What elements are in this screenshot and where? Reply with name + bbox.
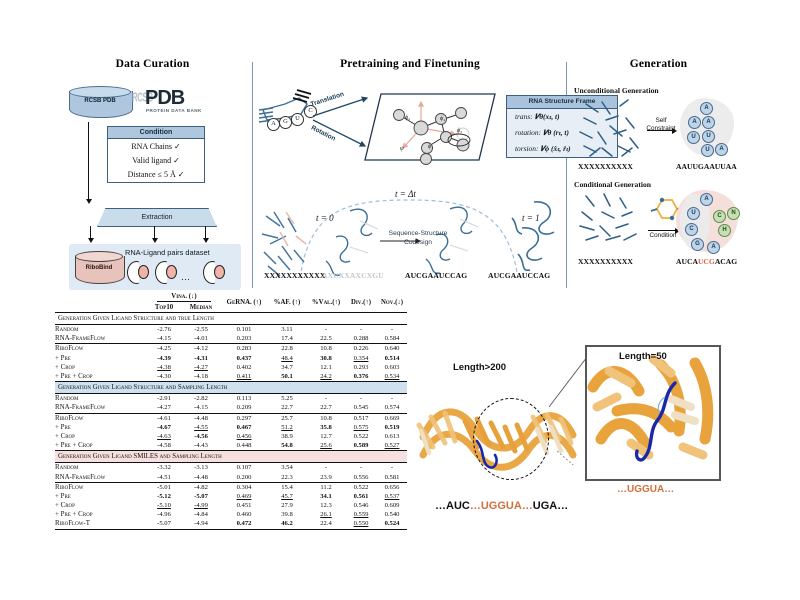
sequence-label-3: AUCGAAUCCAG — [488, 271, 550, 280]
table-bottom-rule — [55, 529, 407, 530]
table-cell: 0.540 — [377, 510, 407, 519]
cond-nuc-C: C — [685, 223, 698, 236]
table-cell: 24.2 — [307, 372, 345, 382]
table-cell: -4.27 — [147, 403, 181, 413]
torsion-frame-diagram — [363, 90, 503, 165]
table-cell: -4.15 — [147, 334, 181, 344]
table-row: + Pre + Crop-4.96-4.840.46039.826.10.559… — [55, 510, 407, 519]
extraction-block: Extraction — [97, 208, 217, 227]
table-row: RiboFlow-T-5.07-4.940.47246.222.40.5500.… — [55, 519, 407, 528]
table-cell: 0.527 — [377, 441, 407, 451]
table-cell: 0.669 — [377, 413, 407, 423]
ligand-pocket-icon-1 — [127, 261, 149, 283]
table-cell: - — [377, 325, 407, 335]
ribobind-dataset-box: RiboBind RNA-Ligand pairs dataset … — [69, 244, 241, 290]
panel-title-generation: Generation — [572, 58, 745, 70]
uncond-nuc-6: A — [715, 143, 728, 156]
table-cell: 0.467 — [221, 423, 267, 432]
ligand-pocket-icon-3 — [203, 261, 225, 283]
table-cell: - — [307, 463, 345, 473]
table-row-method: RNA-FrameFlow — [55, 334, 147, 344]
table-cell: -4.43 — [181, 441, 221, 451]
table-row-method: + Crop — [55, 363, 147, 372]
table-cell: 5.25 — [267, 394, 307, 404]
uncond-input-sequence: XXXXXXXXXX — [578, 162, 633, 171]
panel-divider-1 — [252, 62, 253, 288]
table-cell: 23.9 — [307, 472, 345, 482]
table-cell: 0.524 — [377, 519, 407, 528]
table-cell: -4.27 — [181, 363, 221, 372]
arrow-extract-1 — [90, 226, 91, 239]
table-cell: 0.107 — [221, 463, 267, 473]
table-cell: 0.451 — [221, 501, 267, 510]
codesign-label: Sequence-Structure Codesign — [378, 230, 458, 247]
table-row-method: + Pre + Crop — [55, 510, 147, 519]
sequence-label-2: AUCGAAUCCAG — [405, 271, 467, 280]
extraction-label: Extraction — [98, 209, 216, 226]
table-cell: 0.101 — [221, 325, 267, 335]
table-cell: -4.38 — [147, 363, 181, 372]
zoom-region-circle — [473, 398, 549, 480]
table-cell: 0.640 — [377, 344, 407, 354]
table-row: RNA-FrameFlow-4.51-4.480.20022.323.90.55… — [55, 472, 407, 482]
uncond-nuc-4: U — [702, 130, 715, 143]
table-cell: 0.226 — [345, 344, 377, 354]
table-row-method: + Crop — [55, 432, 147, 441]
table-row: RiboFlow-5.01-4.820.30415.411.20.5220.65… — [55, 482, 407, 492]
col-vina-median: Median — [181, 303, 221, 313]
table-cell: 27.9 — [267, 501, 307, 510]
table-cell: 22.7 — [307, 403, 345, 413]
zoomed-rna-helix — [587, 347, 719, 479]
table-row-method: + Pre — [55, 354, 147, 363]
uncond-nuc-0: A — [700, 102, 713, 115]
table-row: + Pre-5.12-5.070.46945.734.10.5610.537 — [55, 492, 407, 501]
ligand-pocket-icon-2 — [155, 261, 177, 283]
pdb-source-row: RCSB PDB RCSB PDB PROTEIN DATA BANK — [69, 82, 239, 122]
table-cell: -4.55 — [181, 423, 221, 432]
table-cell: 10.8 — [307, 413, 345, 423]
table-cell: -4.58 — [147, 441, 181, 451]
table-cell: 22.3 — [267, 472, 307, 482]
table-cell: 0.304 — [221, 482, 267, 492]
cond-nuc-U: U — [687, 207, 700, 220]
table-cell: 0.517 — [345, 413, 377, 423]
cond-output-prefix: AUCA — [676, 257, 698, 266]
table-cell: 0.561 — [345, 492, 377, 501]
cond-output-highlight: UCG — [698, 257, 715, 266]
table-row: + Pre-4.67-4.550.46751.235.80.5750.519 — [55, 423, 407, 432]
self-constraint-line-2: Constraint — [646, 125, 675, 132]
table-section-header-row: Generation Given Ligand Structure and tr… — [55, 313, 407, 325]
dataset-ellipsis: … — [181, 272, 191, 282]
table-cell: 0.545 — [345, 403, 377, 413]
table-row-method: + Pre + Crop — [55, 441, 147, 451]
table-cell: 25.6 — [307, 441, 345, 451]
cond-nuc-G: G — [691, 238, 704, 251]
col-val: %Val.(↑) — [307, 292, 345, 313]
table-cell: -4.56 — [181, 432, 221, 441]
page-root: Data Curation RCSB PDB RCSB PDB PROTEIN … — [0, 0, 800, 600]
table-cell: 0.613 — [377, 432, 407, 441]
table-cell: 54.8 — [267, 441, 307, 451]
ribobind-label: RiboBind — [75, 265, 123, 271]
table-cell: 0.209 — [221, 403, 267, 413]
col-group-vina: Vina. (↓) — [147, 292, 221, 303]
condition-label: Condition — [644, 232, 682, 239]
table-cell: - — [377, 394, 407, 404]
bottom-seq-highlight: …UGGUA… — [470, 500, 533, 512]
panel-title-pretraining: Pretraining and Finetuning — [260, 58, 560, 70]
table-cell: 0.519 — [377, 423, 407, 432]
table-cell: -4.61 — [147, 413, 181, 423]
panel-pretraining: Pretraining and Finetuning A G U C Trans… — [260, 58, 560, 290]
t-label-dt: t = Δt — [395, 189, 416, 199]
table-cell: - — [345, 325, 377, 335]
table-row: + Pre-4.39-4.310.43748.430.80.3540.514 — [55, 354, 407, 363]
table-cell: 45.7 — [267, 492, 307, 501]
final-rna-structure — [504, 198, 564, 278]
table-cell: - — [307, 325, 345, 335]
table-cell: 0.534 — [377, 372, 407, 382]
table-row-method: + Pre — [55, 492, 147, 501]
table-row: + Pre + Crop-4.58-4.430.44854.825.60.589… — [55, 441, 407, 451]
self-constraint-label: Self Constraint — [644, 117, 678, 133]
table-cell: -2.76 — [147, 325, 181, 335]
table-cell: -4.82 — [181, 482, 221, 492]
table-cell: 22.8 — [267, 344, 307, 354]
table-cell: -5.07 — [147, 519, 181, 528]
table-cell: -2.55 — [181, 325, 221, 335]
cond-ligand-atom-H: H — [718, 224, 731, 237]
uncond-nuc-2: A — [702, 116, 715, 129]
table-row-method: Random — [55, 325, 147, 335]
table-cell: 0.546 — [345, 501, 377, 510]
table-cell: -2.91 — [147, 394, 181, 404]
table-cell: 0.609 — [377, 501, 407, 510]
sequence-label-0: XXXXXXXXXXX — [264, 271, 325, 280]
table-cell: -4.30 — [147, 372, 181, 382]
frame-row-torsion-name: torsion: — [515, 144, 538, 153]
table-section-title: Generation Given Ligand Structure and Sa… — [55, 382, 407, 394]
table-cell: -3.32 — [147, 463, 181, 473]
noise-sticks-cond — [576, 192, 648, 250]
zoom-sequence-label: …UGGUA… — [617, 484, 674, 495]
bottom-sequence-label: …AUC…UGGUA…UGA… — [435, 500, 568, 512]
table-cell: -4.63 — [147, 432, 181, 441]
table-cell: 3.11 — [267, 325, 307, 335]
table-cell: 10.8 — [307, 344, 345, 354]
table-section-header-row: Generation Given Ligand SMILES and Sampl… — [55, 451, 407, 463]
table-cell: -5.07 — [181, 492, 221, 501]
table-cell: 22.7 — [267, 403, 307, 413]
frame-row-trans-expr: 𝑽θ(xₜ, t) — [535, 112, 560, 121]
table-row-method: RiboFlow-T — [55, 519, 147, 528]
table-cell: 11.2 — [307, 482, 345, 492]
uncond-output-sequence: AAUUGAAUUAA — [676, 162, 737, 171]
rcsb-pdb-label: RCSB PDB — [69, 98, 131, 104]
table-row: + Crop-4.38-4.270.40234.712.10.2930.603 — [55, 363, 407, 372]
self-constraint-line-1: Self — [655, 117, 666, 124]
table-cell: 12.1 — [307, 363, 345, 372]
table-row: + Crop-4.63-4.560.45638.912.70.5220.613 — [55, 432, 407, 441]
sequence-label-1: AXUXXAXCXGU — [322, 271, 384, 280]
table-row: + Crop-5.10-4.990.45127.912.30.5460.609 — [55, 501, 407, 510]
table-cell: -4.01 — [181, 334, 221, 344]
nucleotide-U: U — [291, 113, 304, 126]
cond-input-sequence: XXXXXXXXXX — [578, 257, 633, 266]
table-cell: -5.10 — [147, 501, 181, 510]
frame-row-rotation-name: rotation: — [515, 128, 541, 137]
table-cell: 12.3 — [307, 501, 345, 510]
cond-ligand-atom-C: C — [713, 210, 726, 223]
table-cell: 0.556 — [345, 472, 377, 482]
length-over-200-label: Length>200 — [453, 362, 506, 373]
table-header-group-row: Vina. (↓) GeRNA. (↑) %AF. (↑) %Val.(↑) D… — [55, 292, 407, 303]
table-cell: - — [377, 463, 407, 473]
table-cell: 0.550 — [345, 519, 377, 528]
condition-item-1: Valid ligand ✓ — [108, 153, 204, 167]
table-cell: 0.559 — [345, 510, 377, 519]
cond-output-suffix: ACAG — [715, 257, 737, 266]
table-cell: 0.354 — [345, 354, 377, 363]
table-row-method: + Pre — [55, 423, 147, 432]
table-cell: -4.12 — [181, 344, 221, 354]
codesign-line-2: Codesign — [404, 239, 432, 246]
table-cell: - — [307, 394, 345, 404]
nucleotide-A: A — [267, 118, 280, 131]
cond-nuc-A1: A — [700, 193, 713, 206]
torsion-label-phi4: ϕ₄ — [440, 116, 445, 122]
table-cell: 0.522 — [345, 482, 377, 492]
unconditional-generation-title: Unconditional Generation — [574, 86, 659, 95]
table-row-method: RNA-FrameFlow — [55, 403, 147, 413]
table-row-method: RNA-FrameFlow — [55, 472, 147, 482]
table-cell: -4.18 — [181, 372, 221, 382]
table-cell: -4.39 — [147, 354, 181, 363]
table-row: RiboFlow-4.25-4.120.28322.810.80.2260.64… — [55, 344, 407, 354]
table-cell: -4.84 — [181, 510, 221, 519]
table-cell: -4.99 — [181, 501, 221, 510]
table-row-method: RiboFlow — [55, 482, 147, 492]
frame-row-rotation-expr: 𝑽θ (rₜ, t) — [543, 128, 569, 137]
table-cell: -4.67 — [147, 423, 181, 432]
table-cell: 0.472 — [221, 519, 267, 528]
table-cell: 17.4 — [267, 334, 307, 344]
noise-sticks-uncond — [576, 98, 648, 160]
table-cell: 0.575 — [345, 423, 377, 432]
table-cell: 22.5 — [307, 334, 345, 344]
overview-figure: Data Curation RCSB PDB RCSB PDB PROTEIN … — [55, 58, 745, 290]
table-cell: 0.448 — [221, 441, 267, 451]
condition-item-2: Distance ≤ 5 Å ✓ — [108, 167, 204, 181]
table-row: RNA-FrameFlow-4.15-4.010.20317.422.50.28… — [55, 334, 407, 344]
table-cell: 30.8 — [307, 354, 345, 363]
col-af: %AF. (↑) — [267, 292, 307, 313]
table-cell: -4.48 — [181, 413, 221, 423]
table-cell: -4.15 — [181, 403, 221, 413]
table-cell: 51.2 — [267, 423, 307, 432]
torsion-label-phi3: ϕ₃ — [457, 128, 462, 134]
table-head: Vina. (↓) GeRNA. (↑) %AF. (↑) %Val.(↑) D… — [55, 292, 407, 313]
table-cell: -5.01 — [147, 482, 181, 492]
table-cell: 0.469 — [221, 492, 267, 501]
table-cell: 0.656 — [377, 482, 407, 492]
table-cell: 0.514 — [377, 354, 407, 363]
table-cell: - — [345, 463, 377, 473]
table-cell: -4.96 — [147, 510, 181, 519]
col-gernanda: GeRNA. (↑) — [221, 292, 267, 313]
table-section-title: Generation Given Ligand SMILES and Sampl… — [55, 451, 407, 463]
table-cell: 0.456 — [221, 432, 267, 441]
table-cell: -4.25 — [147, 344, 181, 354]
uncond-nuc-3: U — [687, 131, 700, 144]
pdb-logo-main: PDB — [145, 87, 184, 110]
table-cell: -2.82 — [181, 394, 221, 404]
col-div: Div.(↑) — [345, 292, 377, 313]
table-row-method: Random — [55, 463, 147, 473]
dataset-title: RNA-Ligand pairs dataset — [125, 248, 210, 257]
table-cell: 48.4 — [267, 354, 307, 363]
panel-data-curation: Data Curation RCSB PDB RCSB PDB PROTEIN … — [55, 58, 250, 290]
table-row: Random-2.91-2.820.1135.25--- — [55, 394, 407, 404]
table-cell: 0.522 — [345, 432, 377, 441]
table-cell: 34.7 — [267, 363, 307, 372]
arrow-to-extraction — [88, 122, 89, 200]
cond-output-sequence: AUCAUCGACAG — [676, 257, 737, 266]
table-cell: 0.293 — [345, 363, 377, 372]
table-row-method: RiboFlow — [55, 413, 147, 423]
table-row-method: + Crop — [55, 501, 147, 510]
table-cell: 50.1 — [267, 372, 307, 382]
frame-row-torsion-expr: 𝑽ϕ (ẋₜ, ṙₜ) — [540, 144, 570, 153]
table-body: Generation Given Ligand Structure and tr… — [55, 313, 407, 530]
table-row-method: Random — [55, 394, 147, 404]
table-row: Random-2.76-2.550.1013.11--- — [55, 325, 407, 335]
torsion-label-phi2: ϕ₂ — [405, 115, 410, 121]
table-section-header-row: Generation Given Ligand Structure and Sa… — [55, 382, 407, 394]
table-cell: 0.574 — [377, 403, 407, 413]
bottom-seq-prefix: …AUC — [435, 500, 470, 512]
table-cell: 0.460 — [221, 510, 267, 519]
table-cell: 0.288 — [345, 334, 377, 344]
condition-title: Condition — [108, 127, 204, 139]
cond-ligand-atom-N: N — [727, 207, 740, 220]
conditional-generation-title: Conditional Generation — [574, 180, 651, 189]
arrow-extract-2 — [154, 226, 155, 239]
table-cell: 25.7 — [267, 413, 307, 423]
arrow-extract-3 — [205, 226, 206, 239]
table-cell: 0.589 — [345, 441, 377, 451]
table-cell: 39.8 — [267, 510, 307, 519]
results-table-container: Vina. (↓) GeRNA. (↑) %AF. (↑) %Val.(↑) D… — [55, 292, 407, 530]
cond-nuc-A2: A — [707, 241, 720, 254]
table-cell: 26.1 — [307, 510, 345, 519]
table-cell: - — [345, 394, 377, 404]
table-cell: 0.283 — [221, 344, 267, 354]
pdb-logo: RCSB PDB PROTEIN DATA BANK — [132, 86, 236, 118]
table-cell: 0.437 — [221, 354, 267, 363]
table-cell: 0.200 — [221, 472, 267, 482]
table-cell: 0.203 — [221, 334, 267, 344]
table-cell: 34.1 — [307, 492, 345, 501]
table-row-method: RiboFlow — [55, 344, 147, 354]
uncond-nuc-5: U — [701, 144, 714, 157]
table-cell: -5.12 — [147, 492, 181, 501]
table-cell: -4.51 — [147, 472, 181, 482]
condition-item-0: RNA Chains ✓ — [108, 139, 204, 153]
results-table: Vina. (↓) GeRNA. (↑) %AF. (↑) %Val.(↑) D… — [55, 292, 407, 530]
torsion-label-psi: ψ — [400, 146, 404, 152]
table-cell: 38.9 — [267, 432, 307, 441]
rcsb-pdb-cylinder-icon: RCSB PDB — [69, 86, 131, 118]
table-cell: 0.537 — [377, 492, 407, 501]
codesign-line-1: Sequence-Structure — [389, 230, 448, 237]
table-row: Random-3.32-3.130.1073.54--- — [55, 463, 407, 473]
table-cell: 0.603 — [377, 363, 407, 372]
table-cell: 0.376 — [345, 372, 377, 382]
table-cell: 0.402 — [221, 363, 267, 372]
frame-row-trans-name: trans: — [515, 112, 533, 121]
table-cell: 15.4 — [267, 482, 307, 492]
table-cell: 12.7 — [307, 432, 345, 441]
table-cell: -4.94 — [181, 519, 221, 528]
ribobind-cylinder-icon: RiboBind — [75, 251, 123, 284]
table-cell: -3.13 — [181, 463, 221, 473]
table-cell: -4.48 — [181, 472, 221, 482]
table-cell: 0.297 — [221, 413, 267, 423]
table-row: + Pre + Crop-4.30-4.180.41150.124.20.376… — [55, 372, 407, 382]
panel-title-data-curation: Data Curation — [55, 58, 250, 70]
table-cell: 0.411 — [221, 372, 267, 382]
table-row: RiboFlow-4.61-4.480.29725.710.80.5170.66… — [55, 413, 407, 423]
col-nov: Nov.(↓) — [377, 292, 407, 313]
table-cell: 35.8 — [307, 423, 345, 432]
uncond-nuc-1: A — [688, 116, 701, 129]
table-cell: 46.2 — [267, 519, 307, 528]
rna-structure-figure: Length>200 — [425, 300, 775, 550]
table-row-method: + Pre + Crop — [55, 372, 147, 382]
pdb-logo-subtitle: PROTEIN DATA BANK — [146, 108, 202, 113]
table-row: RNA-FrameFlow-4.27-4.150.20922.722.70.54… — [55, 403, 407, 413]
condition-arrow — [648, 230, 676, 231]
table-cell: -4.31 — [181, 354, 221, 363]
table-cell: 0.584 — [377, 334, 407, 344]
table-cell: 3.54 — [267, 463, 307, 473]
table-cell: 0.113 — [221, 394, 267, 404]
torsion-label-phi1: ϕ₁ — [428, 144, 433, 150]
panel-generation: Generation Unconditional Generation Self… — [572, 58, 745, 290]
bottom-seq-suffix: UGA… — [533, 500, 568, 512]
table-cell: 0.581 — [377, 472, 407, 482]
length-50-label: Length=50 — [619, 351, 667, 362]
col-vina-top10: Top10 — [147, 303, 181, 313]
table-section-title: Generation Given Ligand Structure and tr… — [55, 313, 407, 325]
zoomed-structure-panel: Length=50 — [585, 345, 721, 481]
condition-box: Condition RNA Chains ✓ Valid ligand ✓ Di… — [107, 126, 205, 183]
table-cell: 22.4 — [307, 519, 345, 528]
